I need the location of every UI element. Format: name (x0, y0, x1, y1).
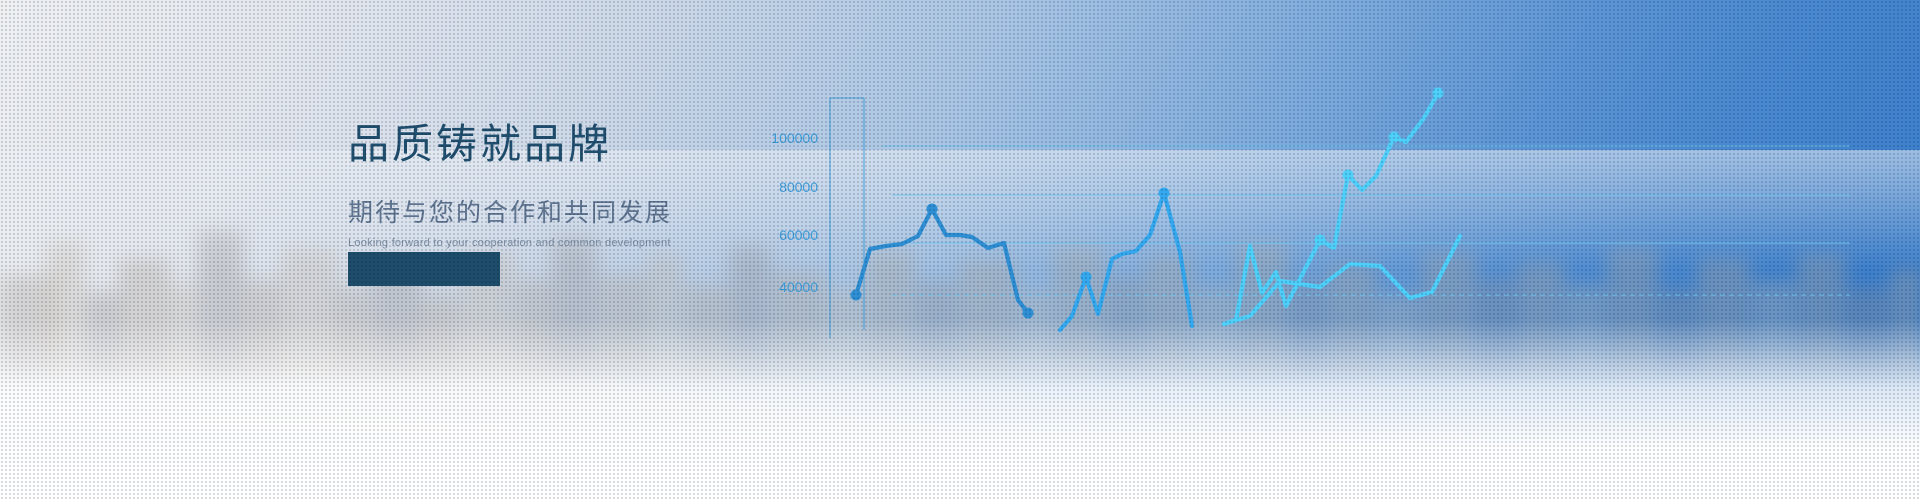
hero-banner: 100000 80000 60000 40000 (0, 0, 1920, 500)
halftone-overlay (0, 0, 1920, 500)
